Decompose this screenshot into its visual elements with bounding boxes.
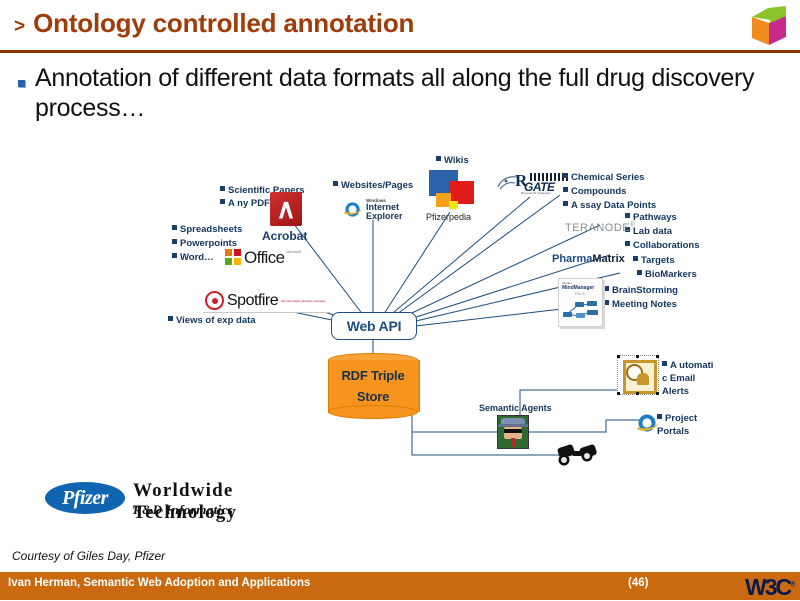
web-api-node[interactable]: Web API [331, 312, 417, 340]
title-chevron: > [14, 17, 25, 36]
semantic-agents-caption: Semantic Agents [479, 403, 552, 413]
bullet-square-icon [604, 286, 609, 291]
label-collaborations: Collaborations [625, 240, 700, 252]
label-spreadsheets: Spreadsheets [172, 224, 242, 236]
label-brainstorming: BrainStorming [604, 285, 678, 297]
bullet-square-icon [633, 256, 638, 261]
title-text: Ontology controlled annotation [33, 8, 414, 39]
bullet-square-icon [563, 187, 568, 192]
bullet-square-icon [220, 186, 225, 191]
courtesy-note: Courtesy of Giles Day, Pfizer [12, 549, 165, 563]
bullet-square-icon [220, 199, 225, 204]
bullet-square-icon [436, 156, 441, 161]
acrobat-icon: ∧ [270, 192, 302, 226]
label-project-portals: Project Portals [657, 413, 715, 439]
label-wikis: Wikis [436, 155, 469, 167]
ie-line2: Explorer [366, 211, 403, 221]
store-label-line2: Store [328, 389, 418, 404]
pharmamatrix-part2: Matrix [592, 253, 624, 265]
label-compounds: Compounds [563, 186, 626, 198]
label-word: Word… [172, 252, 214, 264]
office-wordmark: Office [244, 249, 285, 266]
web-api-label: Web API [347, 318, 402, 334]
internet-explorer-icon [343, 200, 364, 219]
spotfire-bullseye-icon [205, 291, 224, 310]
bullet-square-icon [637, 270, 642, 275]
pfizer-wordmark: Pfizer [62, 487, 108, 510]
acrobat-a-glyph: ∧ [270, 192, 302, 226]
spotfire-tagline: the information analysis company [281, 299, 326, 303]
label-websites-pages: Websites/Pages [333, 180, 413, 192]
label-automatic-email-alerts: A utomati c Email Alerts [662, 360, 720, 398]
bullet-square-icon [563, 201, 568, 206]
acrobat-caption: Acrobat [262, 229, 307, 243]
pfizer-oval-badge: Pfizer [45, 482, 125, 514]
w3c-registered-mark: ® [790, 581, 795, 588]
pfizerpedia-icon [429, 170, 479, 216]
w3c-text: W3C [745, 574, 790, 600]
rgate-logo: R GATE Research Gateway [497, 172, 571, 196]
spotfire-wordmark: Spotfire [227, 293, 278, 309]
label-chemical-series: Chemical Series [563, 172, 644, 184]
bullet-square-icon [18, 80, 25, 87]
cylinder-bottom [328, 405, 418, 419]
label-any-pdf: A ny PDF [220, 198, 270, 210]
binoculars-icon [556, 442, 600, 468]
rdf-triple-store-node[interactable]: RDF Triple Store [328, 353, 418, 419]
page-title: > Ontology controlled annotation [14, 8, 414, 39]
internet-explorer-logo: Windows Internet Explorer [343, 198, 403, 221]
pharmamatrix-logo: PharmaMatrix [552, 253, 625, 265]
pfizer-worldwide-technology-logo: Pfizer Worldwide Technology R&D Informat… [45, 478, 315, 518]
architecture-diagram: Scientific Papers A ny PDF Spreadsheets … [0, 150, 800, 480]
footer-author: Ivan Herman, Semantic Web Adoption and A… [8, 577, 310, 589]
teranode-logo: TERANODE® [565, 222, 635, 234]
bullet-square-icon [662, 361, 667, 366]
bullet-square-icon [604, 300, 609, 305]
bullet-text: Annotation of different data formats all… [35, 64, 788, 123]
label-targets: Targets [633, 255, 675, 267]
rgate-tagline: Research Gateway [521, 191, 551, 195]
bullet-square-icon [168, 316, 173, 321]
teranode-wordmark: TERANODE [565, 222, 630, 234]
pharmamatrix-part1: Pharma [552, 253, 592, 265]
label-assay-data-points: A ssay Data Points [563, 200, 656, 212]
bullet-square-icon [625, 241, 630, 246]
bullet-item: Annotation of different data formats all… [18, 64, 788, 123]
label-views-exp-data: Views of exp data [168, 315, 256, 327]
automatic-email-alerts-icon [617, 355, 659, 395]
pfizerpedia-caption: Pfizerpedia [426, 212, 471, 222]
w3c-footer-logo: W3C® [745, 574, 795, 601]
footer-page-number: (46) [628, 577, 648, 589]
rd-informatics-text: R&D Informatics [133, 502, 233, 518]
bullet-square-icon [333, 181, 338, 186]
bullet-square-icon [172, 253, 177, 258]
title-divider [0, 50, 800, 53]
bullet-square-icon [657, 414, 662, 419]
store-label-line1: RDF Triple [328, 368, 418, 383]
office-tiles-icon [225, 249, 242, 266]
label-biomarkers: BioMarkers [637, 269, 697, 281]
ie-wordmark: Windows Internet Explorer [366, 198, 403, 221]
bullet-square-icon [625, 213, 630, 218]
bullet-square-icon [563, 173, 568, 178]
mindmanager-icon: Mindjet MindManager Pro 6 [558, 278, 603, 327]
bullet-square-icon [172, 225, 177, 230]
w3c-cube-logo [746, 4, 792, 48]
microsoft-office-logo: Office Microsoft [223, 248, 303, 267]
mindmanager-map-graphic [559, 296, 602, 322]
semantic-agent-icon [497, 415, 529, 449]
office-microsoft-text: Microsoft [287, 250, 301, 254]
spotfire-logo: Spotfire the information analysis compan… [203, 290, 330, 313]
label-meeting-notes: Meeting Notes [604, 299, 677, 311]
teranode-trademark: ® [630, 222, 635, 228]
bullet-square-icon [172, 239, 177, 244]
